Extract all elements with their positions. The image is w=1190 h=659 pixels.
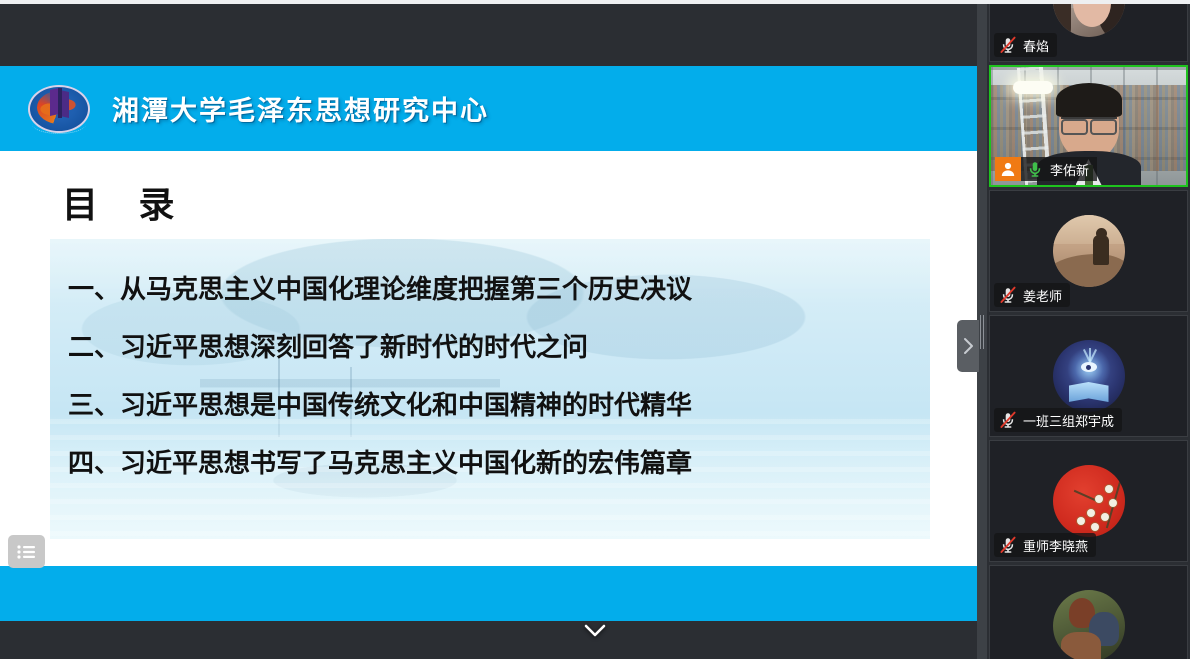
shared-screen-viewport: 湘潭大学毛泽东思想研究中心 目 录 一、从马克思主义中国化理论维度把握第三个历史… <box>0 4 977 659</box>
xiangtan-university-logo-icon <box>28 82 90 136</box>
slide-toc-item-3: 三、习近平思想是中国传统文化和中国精神的时代精华 <box>68 377 930 435</box>
slide-toc-list: 一、从马克思主义中国化理论维度把握第三个历史决议 二、习近平思想深刻回答了新时代… <box>50 239 930 539</box>
participant-tile[interactable]: 重师李晓燕 <box>989 440 1188 562</box>
slide-toc-item-2: 二、习近平思想深刻回答了新时代的时代之问 <box>68 319 930 377</box>
participant-name: 春焰 <box>1023 36 1049 55</box>
participant-tile[interactable]: 李佑新 <box>989 65 1188 187</box>
microphone-muted-icon <box>998 35 1018 55</box>
avatar <box>1053 465 1125 537</box>
slide-header-band: 湘潭大学毛泽东思想研究中心 <box>0 66 977 151</box>
presentation-slide: 湘潭大学毛泽东思想研究中心 目 录 一、从马克思主义中国化理论维度把握第三个历史… <box>0 66 977 621</box>
participant-tile[interactable] <box>989 565 1188 659</box>
microphone-muted-icon <box>998 410 1018 430</box>
slide-toc-item-4: 四、习近平思想书写了马克思主义中国化新的宏伟篇章 <box>68 435 930 493</box>
participant-name-badge: 李佑新 <box>995 157 1105 181</box>
slide-toc-item-1: 一、从马克思主义中国化理论维度把握第三个历史决议 <box>68 261 930 319</box>
participant-name: 李佑新 <box>1050 160 1089 179</box>
participant-name-badge: 姜老师 <box>994 283 1070 307</box>
participant-name-badge: 一班三组郑宇成 <box>994 408 1122 432</box>
host-badge <box>995 157 1021 181</box>
participant-tile[interactable]: 姜老师 <box>989 190 1188 312</box>
slide-toc-panel: 一、从马克思主义中国化理论维度把握第三个历史决议 二、习近平思想深刻回答了新时代… <box>50 239 930 539</box>
avatar <box>1053 215 1125 287</box>
slide-organization-title: 湘潭大学毛泽东思想研究中心 <box>112 89 489 128</box>
avatar <box>1053 4 1125 37</box>
microphone-muted-icon <box>998 285 1018 305</box>
list-icon <box>17 545 37 559</box>
participant-name: 一班三组郑宇成 <box>1023 411 1114 430</box>
microphone-on-icon <box>1025 159 1045 179</box>
microphone-muted-icon <box>998 535 1018 555</box>
participant-tile[interactable]: 春焰 <box>989 4 1188 62</box>
slide-toc-heading: 目 录 <box>62 176 189 228</box>
chevron-down-icon <box>583 623 607 639</box>
participant-name-badge: 重师李晓燕 <box>994 533 1096 557</box>
avatar <box>1053 590 1125 659</box>
avatar-container <box>990 566 1187 659</box>
avatar <box>1053 340 1125 412</box>
person-icon <box>1000 161 1016 177</box>
chevron-right-icon <box>963 337 974 355</box>
participant-tile[interactable]: 一班三组郑宇成 <box>989 315 1188 437</box>
collapse-video-panel-button[interactable] <box>957 320 979 372</box>
slide-body: 目 录 一、从马克思主义中国化理论维度把握第三个历史决议 二、习近平思想深刻回答… <box>0 151 977 606</box>
grip-lines-icon <box>980 315 984 349</box>
slide-footer-band <box>0 566 977 621</box>
participant-filmstrip[interactable]: 春焰 <box>987 4 1190 659</box>
participant-name-badge: 春焰 <box>994 33 1057 57</box>
participant-name: 重师李晓燕 <box>1023 536 1088 555</box>
filmstrip-scroll-down-button[interactable] <box>581 617 609 645</box>
name-pill: 李佑新 <box>1021 157 1097 181</box>
slide-outline-button[interactable] <box>8 535 45 568</box>
participant-name: 姜老师 <box>1023 286 1062 305</box>
